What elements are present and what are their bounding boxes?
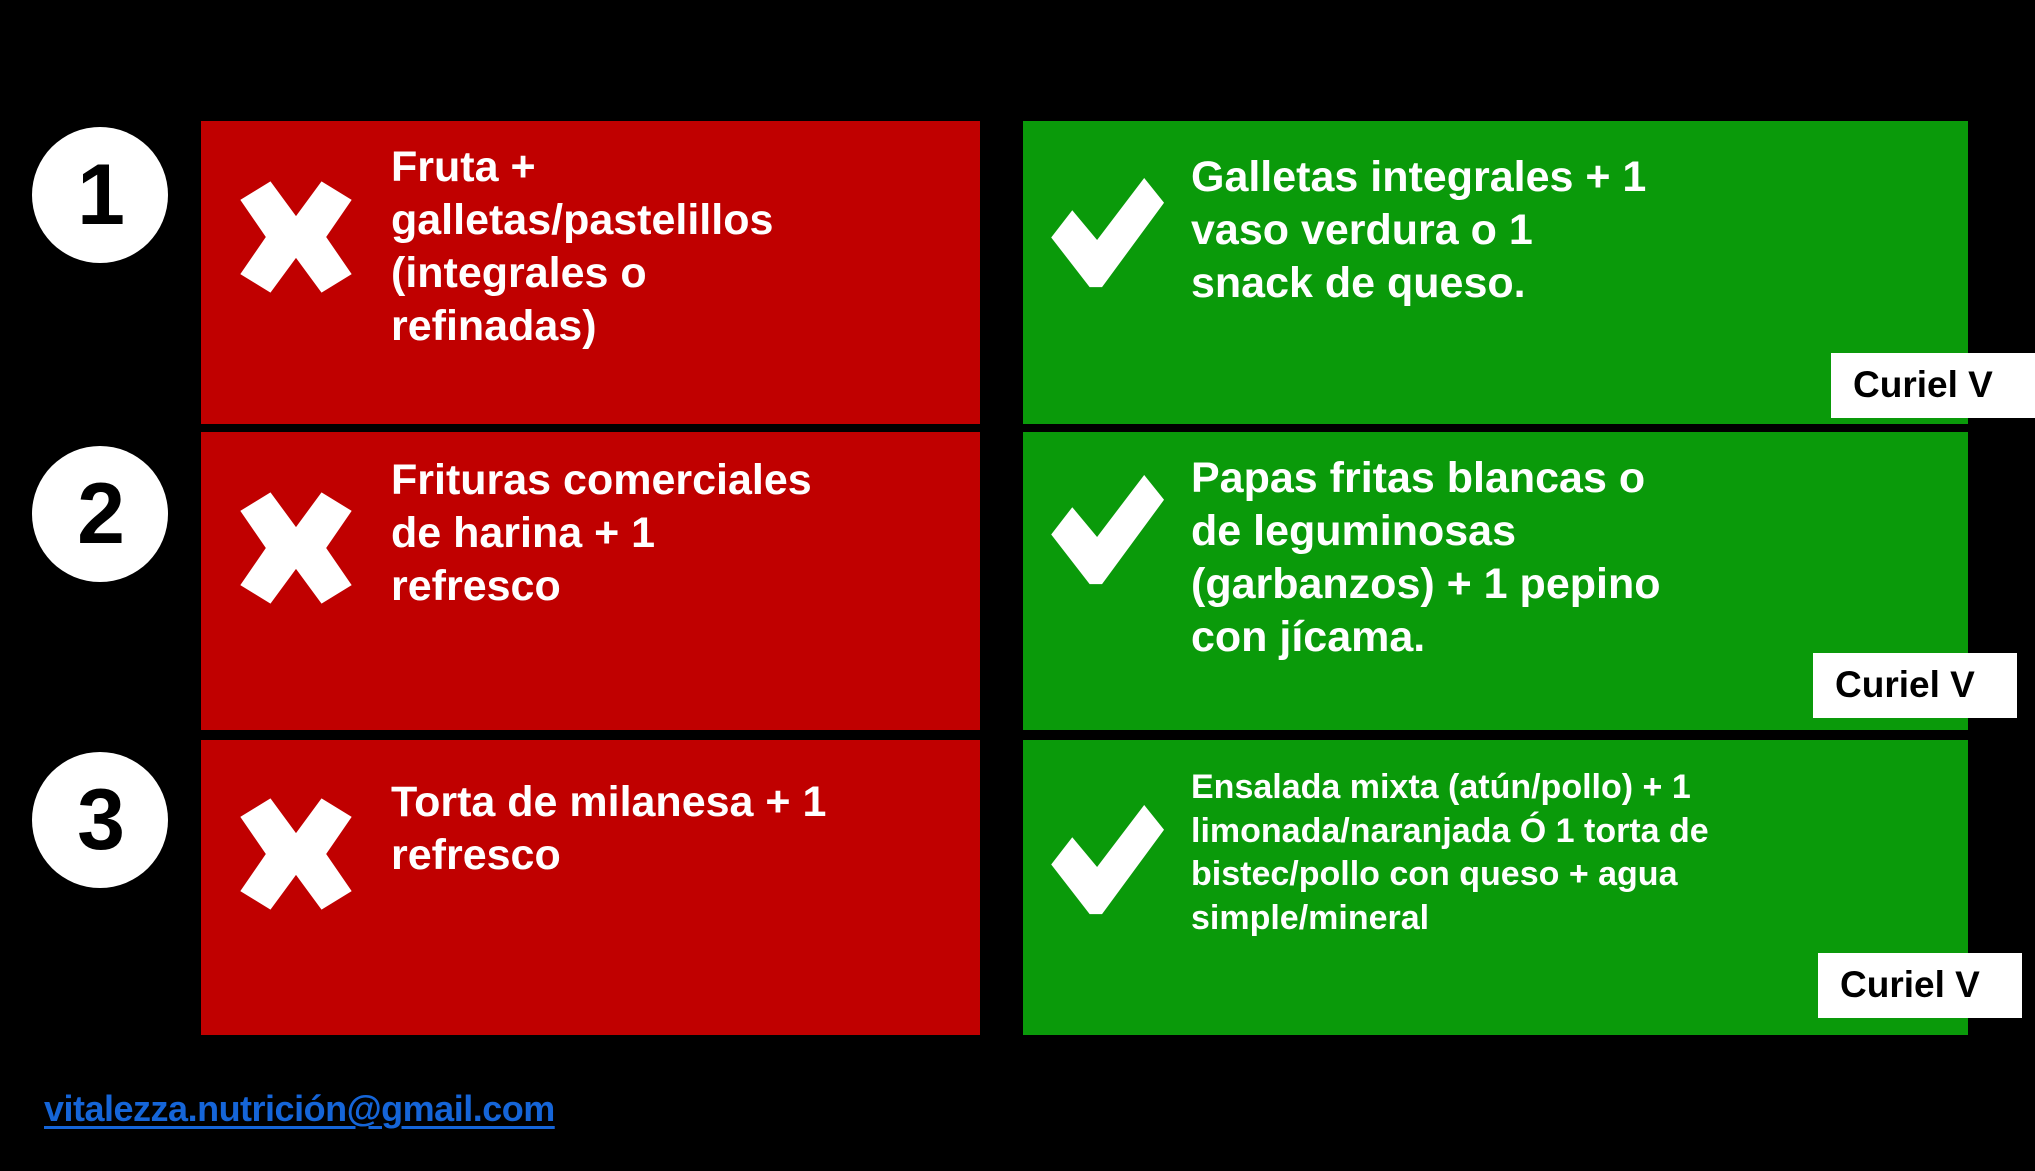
row-number-label: 1	[77, 152, 123, 238]
recommend-description: Ensalada mixta (atún/pollo) + 1 limonada…	[1191, 740, 1968, 940]
recommend-panel: Ensalada mixta (atún/pollo) + 1 limonada…	[1023, 740, 1968, 1035]
avoid-panel: Frituras comerciales de harina + 1 refre…	[201, 432, 980, 730]
avoid-description: Torta de milanesa + 1 refresco	[391, 740, 980, 882]
comparison-row: 2 Frituras comerciales de harina + 1 ref…	[0, 432, 2035, 730]
row-number-label: 2	[77, 471, 123, 557]
row-number-badge: 3	[32, 752, 168, 888]
row-number-label: 3	[77, 777, 123, 863]
row-number-badge: 1	[32, 127, 168, 263]
cross-mark-icon-slot	[201, 740, 391, 912]
author-badge: Curiel V	[1813, 653, 2017, 718]
check-mark-icon	[1042, 800, 1172, 924]
cross-mark-icon	[237, 179, 355, 295]
recommend-panel: Papas fritas blancas o de leguminosas (g…	[1023, 432, 1968, 730]
row-number-badge: 2	[32, 446, 168, 582]
comparison-row: 3 Torta de milanesa + 1 refresco Ensalad…	[0, 740, 2035, 1035]
author-badge: Curiel V	[1831, 353, 2035, 418]
poster-canvas: 1 Fruta + galletas/pastelillos (integral…	[0, 0, 2035, 1171]
cross-mark-icon	[237, 796, 355, 912]
check-mark-icon-slot	[1023, 432, 1191, 594]
avoid-panel: Torta de milanesa + 1 refresco	[201, 740, 980, 1035]
contact-email-link[interactable]: vitalezza.nutrición@gmail.com	[44, 1088, 555, 1130]
cross-mark-icon	[237, 490, 355, 606]
recommend-description: Galletas integrales + 1 vaso verdura o 1…	[1191, 121, 1968, 310]
avoid-description: Frituras comerciales de harina + 1 refre…	[391, 432, 980, 613]
check-mark-icon-slot	[1023, 121, 1191, 297]
check-mark-icon	[1042, 470, 1172, 594]
cross-mark-icon-slot	[201, 432, 391, 606]
cross-mark-icon-slot	[201, 121, 391, 295]
author-badge: Curiel V	[1818, 953, 2022, 1018]
check-mark-icon	[1042, 173, 1172, 297]
recommend-description: Papas fritas blancas o de leguminosas (g…	[1191, 432, 1968, 664]
recommend-panel: Galletas integrales + 1 vaso verdura o 1…	[1023, 121, 1968, 424]
avoid-panel: Fruta + galletas/pastelillos (integrales…	[201, 121, 980, 424]
comparison-row: 1 Fruta + galletas/pastelillos (integral…	[0, 121, 2035, 424]
avoid-description: Fruta + galletas/pastelillos (integrales…	[391, 121, 980, 353]
check-mark-icon-slot	[1023, 740, 1191, 924]
